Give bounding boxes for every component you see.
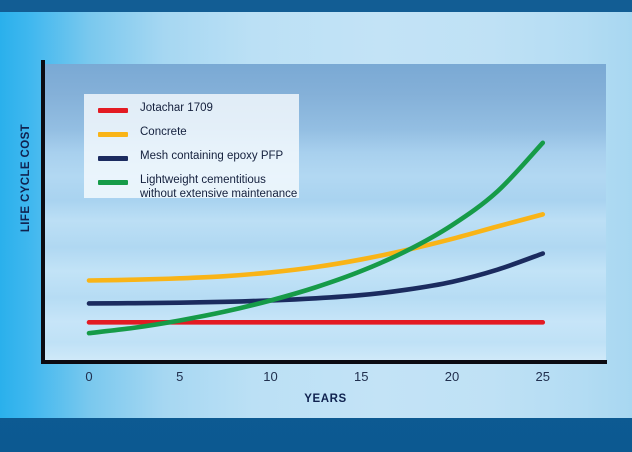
y-axis-title: LIFE CYCLE COST (20, 108, 32, 248)
legend-item-label: Mesh containing epoxy PFP (140, 150, 283, 164)
x-tick-label: 5 (160, 369, 200, 384)
x-tick-label: 0 (69, 369, 109, 384)
legend-color-swatch (98, 180, 128, 185)
chart-panel: LIFE CYCLE COST 0510152025 YEARS Jotacha… (0, 12, 632, 418)
legend-item-label: Jotachar 1709 (140, 102, 213, 116)
x-tick-label: 10 (251, 369, 291, 384)
x-axis-title: YEARS (45, 393, 606, 405)
legend-item: Mesh containing epoxy PFP (84, 150, 299, 174)
legend-item: Jotachar 1709 (84, 102, 299, 126)
legend-item-label: Concrete (140, 126, 187, 140)
chart-legend: Jotachar 1709ConcreteMesh containing epo… (84, 94, 299, 198)
y-axis-line (41, 60, 45, 364)
x-tick-label: 20 (432, 369, 472, 384)
series-line (89, 214, 543, 280)
x-axis-line (41, 360, 607, 364)
legend-color-swatch (98, 156, 128, 161)
legend-item: Lightweight cementitious without extensi… (84, 174, 299, 206)
x-tick-label: 15 (341, 369, 381, 384)
legend-color-swatch (98, 132, 128, 137)
legend-item-label: Lightweight cementitious without extensi… (140, 174, 297, 201)
legend-item: Concrete (84, 126, 299, 150)
legend-color-swatch (98, 108, 128, 113)
x-tick-label: 25 (523, 369, 563, 384)
life-cycle-cost-chart-figure: LIFE CYCLE COST 0510152025 YEARS Jotacha… (0, 0, 632, 452)
